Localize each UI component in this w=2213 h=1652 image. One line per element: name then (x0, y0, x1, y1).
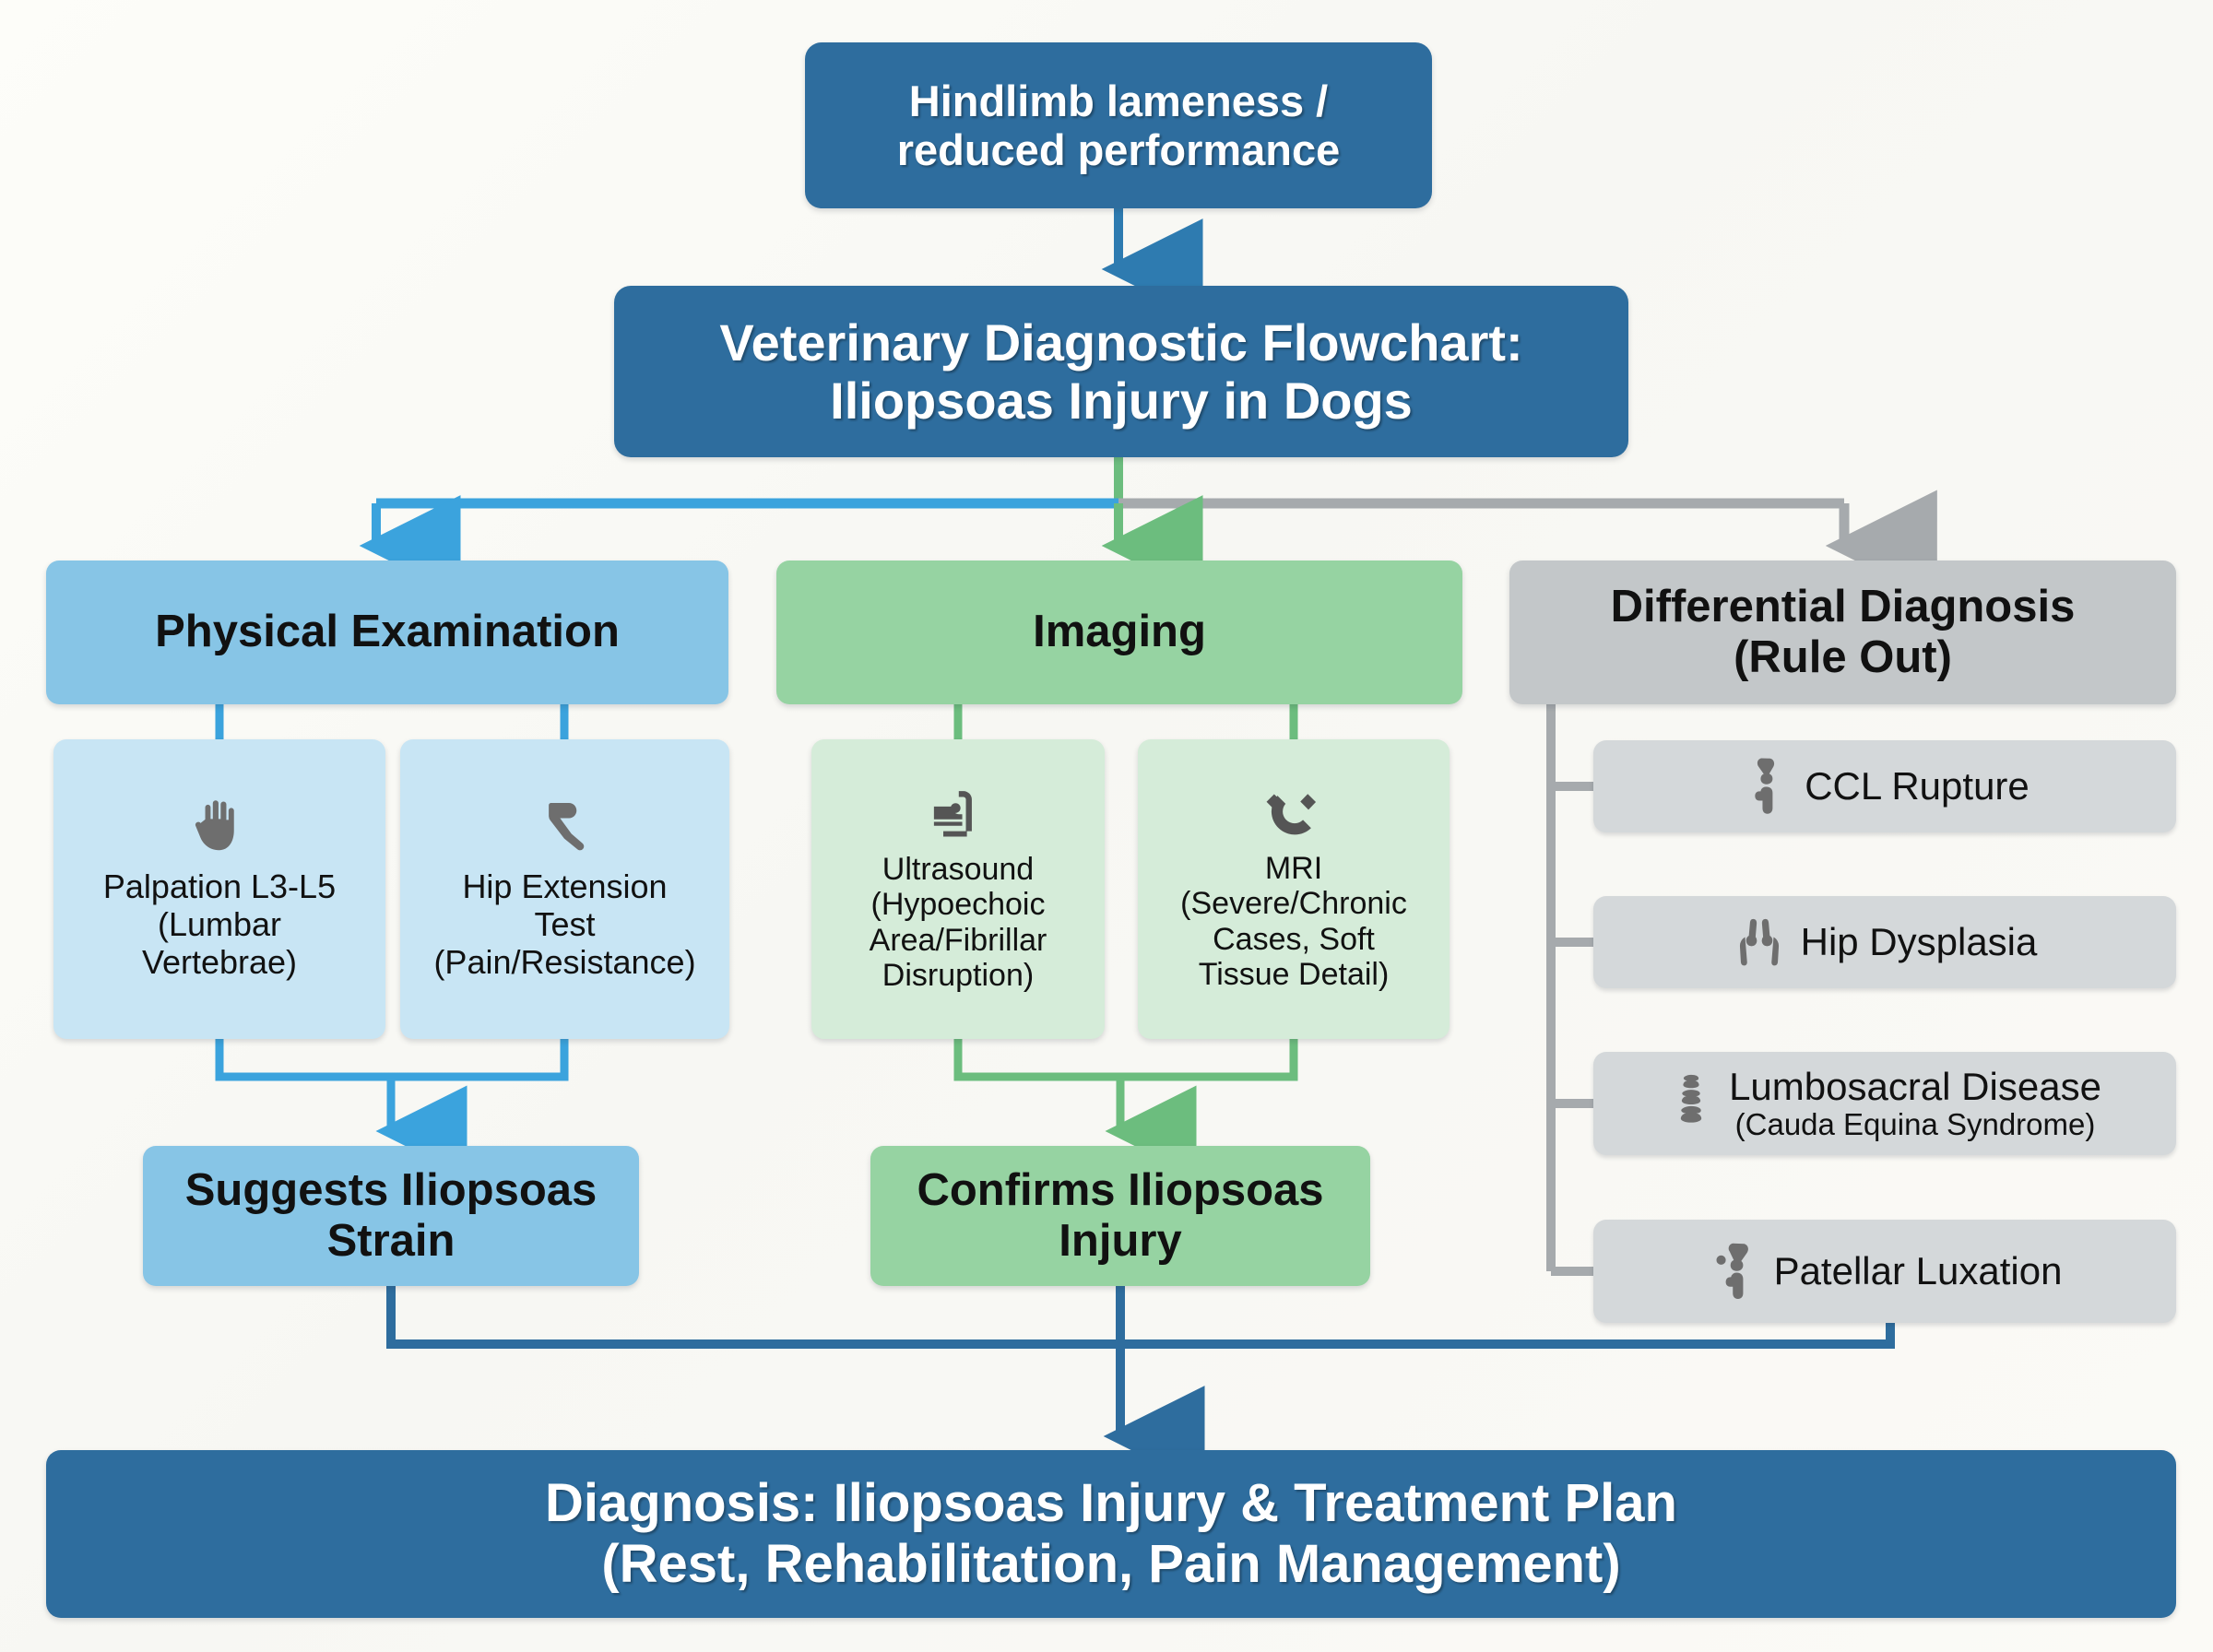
final-line-1: Diagnosis: Iliopsoas Injury & Treatment … (545, 1473, 1677, 1534)
confirms-injury-line-2: Injury (1059, 1216, 1181, 1267)
ultrasound-sub-2: Area/Fibrillar (870, 923, 1047, 958)
branch-header-differential-diagnosis[interactable]: Differential Diagnosis (Rule Out) (1509, 560, 2176, 704)
differential-label-1: Differential Diagnosis (1611, 582, 2076, 632)
hip-extension-sub-1: (Pain/Resistance) (433, 944, 695, 982)
mri-sub-1: (Severe/Chronic (1180, 886, 1407, 921)
patella-knee-icon (1708, 1241, 1759, 1302)
ultrasound-sub-1: (Hypoechoic (871, 887, 1046, 922)
differential-item-lumbosacral-disease[interactable]: Lumbosacral Disease (Cauda Equina Syndro… (1593, 1052, 2176, 1155)
suggests-strain-line-1: Suggests Iliopsoas (185, 1165, 598, 1216)
patellar-luxation-label: Patellar Luxation (1774, 1250, 2063, 1292)
differential-item-hip-dysplasia[interactable]: Hip Dysplasia (1593, 896, 2176, 988)
spine-icon (1668, 1072, 1714, 1135)
final-diagnosis-node[interactable]: Diagnosis: Iliopsoas Injury & Treatment … (46, 1450, 2176, 1618)
patellar-luxation-text: Patellar Luxation (1774, 1250, 2063, 1292)
hip-extension-title-1: Hip Extension (462, 868, 667, 906)
start-line-2: reduced performance (897, 125, 1341, 174)
knee-joint-icon (1740, 756, 1790, 817)
lumbosacral-sublabel: (Cauda Equina Syndrome) (1735, 1108, 2096, 1141)
node-palpation[interactable]: Palpation L3-L5 (Lumbar Vertebrae) (53, 739, 385, 1039)
flowchart-canvas: Hindlimb lameness / reduced performance … (0, 0, 2213, 1652)
hip-dysplasia-text: Hip Dysplasia (1801, 921, 2038, 963)
palpation-sub-2: Vertebrae) (142, 944, 297, 982)
hip-dysplasia-label: Hip Dysplasia (1801, 921, 2038, 963)
branch-header-imaging[interactable]: Imaging (776, 560, 1462, 704)
lumbosacral-label: Lumbosacral Disease (1729, 1066, 2101, 1108)
magnet-mri-icon (1265, 786, 1322, 844)
pelvis-icon (1733, 914, 1786, 970)
suggests-strain-line-2: Strain (327, 1216, 456, 1267)
node-hip-extension-test[interactable]: Hip Extension Test (Pain/Resistance) (400, 739, 729, 1039)
chart-title-line-2: Iliopsoas Injury in Dogs (830, 372, 1413, 430)
ccl-rupture-text: CCL Rupture (1805, 765, 2030, 808)
mri-sub-2: Cases, Soft (1213, 922, 1375, 957)
confirms-injury-line-1: Confirms Iliopsoas (917, 1165, 1323, 1216)
start-line-1: Hindlimb lameness / (909, 77, 1328, 125)
differential-label-2: (Rule Out) (1734, 632, 1952, 683)
ultrasound-title: Ultrasound (882, 852, 1034, 887)
outcome-confirms-injury[interactable]: Confirms Iliopsoas Injury (870, 1146, 1370, 1286)
outcome-suggests-strain[interactable]: Suggests Iliopsoas Strain (143, 1146, 639, 1286)
dog-hindlimb-icon (536, 796, 595, 861)
lumbosacral-text: Lumbosacral Disease (Cauda Equina Syndro… (1729, 1066, 2101, 1141)
ultrasound-sub-3: Disruption) (882, 958, 1034, 993)
ultrasound-scanner-icon (929, 785, 988, 844)
start-node[interactable]: Hindlimb lameness / reduced performance (805, 42, 1432, 208)
chart-title-line-1: Veterinary Diagnostic Flowchart: (719, 313, 1522, 372)
mri-title: MRI (1265, 851, 1322, 886)
mri-sub-3: Tissue Detail) (1199, 957, 1390, 992)
palpation-sub-1: (Lumbar (158, 906, 281, 944)
differential-item-patellar-luxation[interactable]: Patellar Luxation (1593, 1220, 2176, 1323)
differential-item-ccl-rupture[interactable]: CCL Rupture (1593, 740, 2176, 832)
chart-title: Veterinary Diagnostic Flowchart: Iliopso… (614, 286, 1628, 457)
hand-palpation-icon (190, 796, 249, 861)
hip-extension-title-2: Test (534, 906, 595, 944)
branch-header-physical-exam[interactable]: Physical Examination (46, 560, 728, 704)
physical-exam-label: Physical Examination (155, 607, 620, 657)
palpation-title: Palpation L3-L5 (103, 868, 336, 906)
imaging-label: Imaging (1033, 607, 1206, 657)
ccl-rupture-label: CCL Rupture (1805, 765, 2030, 808)
node-mri[interactable]: MRI (Severe/Chronic Cases, Soft Tissue D… (1138, 739, 1450, 1039)
node-ultrasound[interactable]: Ultrasound (Hypoechoic Area/Fibrillar Di… (811, 739, 1105, 1039)
final-line-2: (Rest, Rehabilitation, Pain Management) (601, 1534, 1620, 1595)
